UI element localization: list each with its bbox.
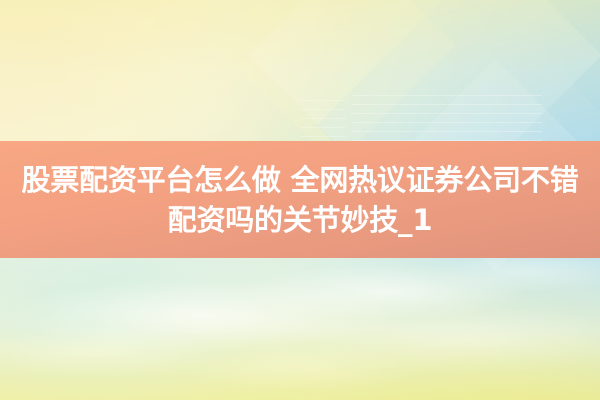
banner-title-text: 股票配资平台怎么做 全网热议证券公司不错配资吗的关节妙技_1 [0,160,600,240]
ruled-line-texture-1-shape [352,95,542,143]
ruled-line-texture-2-shape [300,100,346,142]
image-canvas: 股票配资平台怎么做 全网热议证券公司不错配资吗的关节妙技_1 [0,0,600,400]
title-banner: 股票配资平台怎么做 全网热议证券公司不错配资吗的关节妙技_1 [0,141,600,258]
